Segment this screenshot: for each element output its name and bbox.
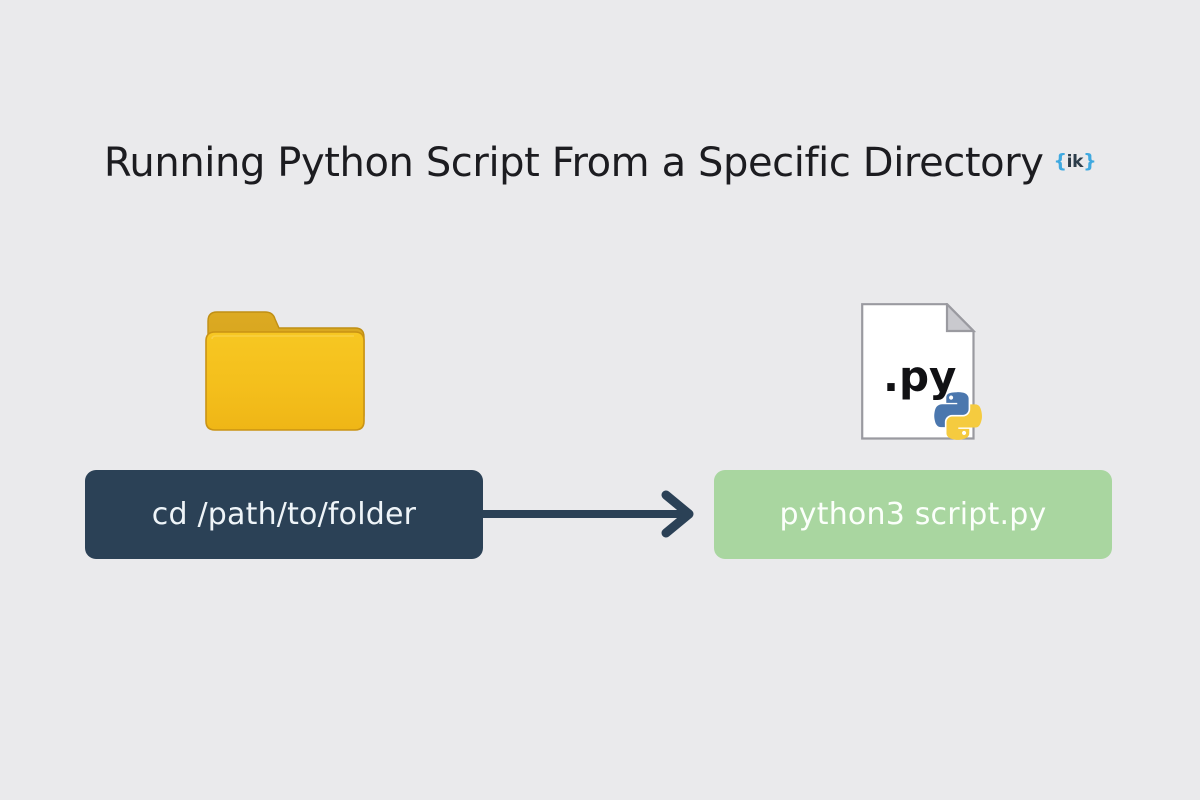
folder-front-panel	[206, 332, 364, 430]
source-command-text: cd /path/to/folder	[152, 497, 416, 532]
brand-left-brace: {	[1054, 150, 1067, 172]
brand-right-brace: }	[1083, 150, 1096, 172]
target-command-text: python3 script.py	[780, 497, 1047, 532]
folder-icon	[203, 303, 367, 438]
slide-canvas: Running Python Script From a Specific Di…	[0, 0, 1200, 800]
page-title-text: Running Python Script From a Specific Di…	[104, 140, 1044, 186]
target-command-box[interactable]: python3 script.py	[714, 470, 1112, 559]
python-file-icon: .py	[861, 303, 991, 440]
document-fold-corner	[947, 304, 974, 331]
brand-logo: {ik}	[1054, 150, 1097, 172]
brand-name: ik	[1067, 152, 1084, 172]
arrow-right-icon	[480, 488, 716, 540]
page-title: Running Python Script From a Specific Di…	[0, 140, 1200, 186]
source-command-box[interactable]: cd /path/to/folder	[85, 470, 483, 559]
file-extension-label: .py	[883, 352, 956, 401]
